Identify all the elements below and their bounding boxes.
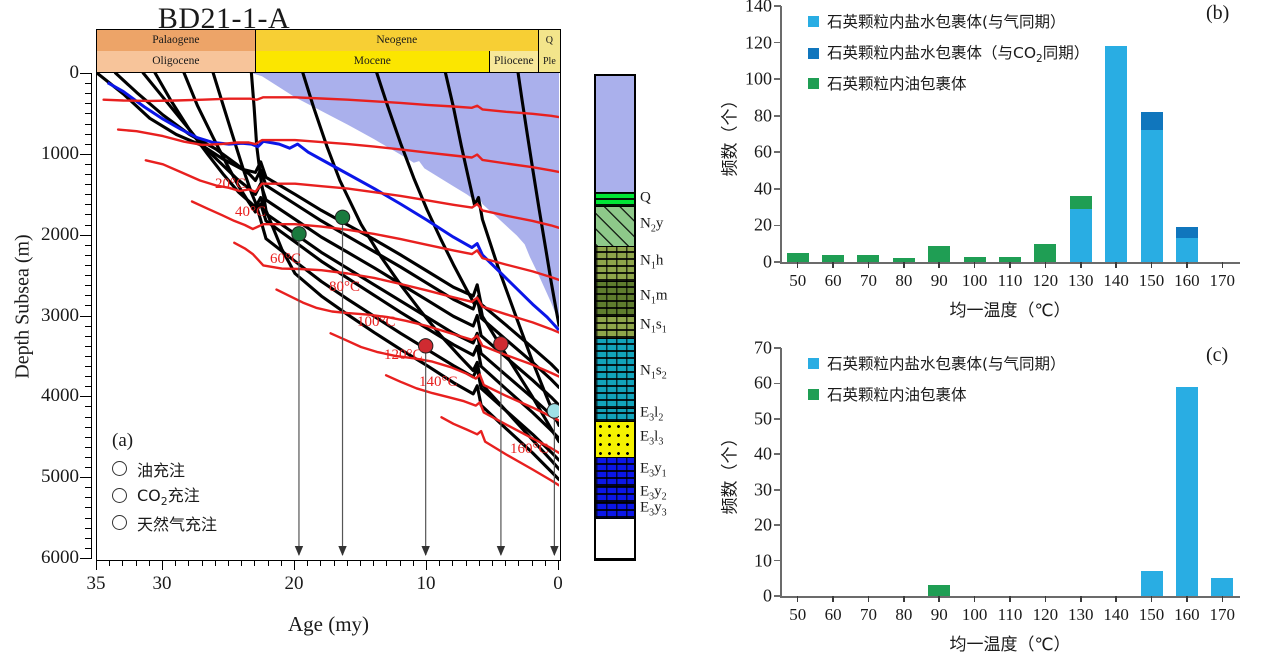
legend-swatch-icon bbox=[808, 389, 819, 400]
x-tick-label: 80 bbox=[895, 605, 912, 625]
age-minor-tick bbox=[413, 561, 414, 566]
bar-c-160-s0 bbox=[1176, 387, 1198, 596]
panel-c-histogram: 0102030405060705060708090100110120130140… bbox=[690, 320, 1266, 658]
bar-b-90-s2 bbox=[928, 246, 950, 262]
bar-b-120-s2 bbox=[1034, 244, 1056, 262]
strat-unit-E₃y₃ bbox=[596, 503, 634, 519]
x-tick-label: 60 bbox=[825, 271, 842, 291]
strat-unit-N₂y bbox=[596, 207, 634, 247]
y-tick bbox=[774, 78, 781, 80]
legend-swatch-icon bbox=[808, 358, 819, 369]
legend-label-co2: CO2充注 bbox=[137, 482, 200, 508]
age-minor-tick bbox=[320, 561, 321, 566]
strat-unit-label: Q bbox=[640, 190, 651, 207]
panel-b-tag: (b) bbox=[1206, 2, 1229, 25]
y-tick bbox=[774, 453, 781, 455]
chronostrat-cell-palaogene: Palaogene bbox=[97, 30, 256, 51]
charge-event-marker-oil bbox=[292, 227, 306, 241]
x-tick bbox=[1186, 596, 1188, 602]
age-tick-label: 35 bbox=[87, 573, 106, 595]
y-axis-line bbox=[780, 6, 782, 262]
charge-event-arrowhead bbox=[338, 546, 346, 556]
age-minor-tick bbox=[466, 561, 467, 566]
x-tick bbox=[903, 262, 905, 268]
legend-label-gas: 天然气充注 bbox=[137, 511, 217, 535]
age-minor-tick bbox=[347, 561, 348, 566]
age-minor-tick bbox=[109, 561, 110, 566]
x-axis-title: 均一温度（℃） bbox=[780, 630, 1240, 655]
y-tick bbox=[774, 347, 781, 349]
strat-unit-label: E3y1 bbox=[640, 461, 667, 480]
x-tick bbox=[868, 262, 870, 268]
strat-unit-label: N1s1 bbox=[640, 316, 667, 335]
bar-b-80-s2 bbox=[893, 258, 915, 262]
x-tick bbox=[1151, 596, 1153, 602]
x-tick bbox=[832, 596, 834, 602]
depth-tick-label: 0 bbox=[70, 62, 80, 84]
y-tick-label: 120 bbox=[724, 32, 772, 53]
y-tick bbox=[774, 225, 781, 227]
y-tick-label: 20 bbox=[724, 215, 772, 236]
x-tick-label: 50 bbox=[789, 605, 806, 625]
isotherm-label: 160°C bbox=[510, 441, 549, 457]
charge-event-arrowhead bbox=[497, 546, 505, 556]
strat-unit-label: E3l3 bbox=[640, 428, 663, 447]
oil-marker-icon bbox=[112, 461, 127, 476]
age-major-tick bbox=[162, 561, 163, 570]
x-tick bbox=[1080, 262, 1082, 268]
depth-tick-label: 6000 bbox=[41, 547, 79, 569]
legend-label: 石英颗粒内盐水包裹体(与气同期） bbox=[827, 10, 1066, 32]
age-axis-title: Age (my) bbox=[96, 612, 561, 637]
co2-marker-icon bbox=[112, 488, 127, 503]
strat-unit-E₃l₃ bbox=[596, 422, 634, 458]
panel-b-histogram: 0204060801001201405060708090100110120130… bbox=[690, 0, 1266, 320]
age-minor-tick bbox=[228, 561, 229, 566]
age-minor-tick bbox=[373, 561, 374, 566]
strat-unit-N₁h bbox=[596, 247, 634, 282]
depth-axis-spine bbox=[91, 73, 92, 558]
legend-label: 石英颗粒内盐水包裹体(与气同期） bbox=[827, 352, 1066, 374]
legend-label: 石英颗粒内油包裹体 bbox=[827, 72, 967, 94]
age-tick-label: 10 bbox=[417, 573, 436, 595]
x-tick-label: 120 bbox=[1033, 605, 1059, 625]
y-tick bbox=[774, 595, 781, 597]
legend-swatch-icon bbox=[808, 48, 819, 59]
strat-unit-label: N2y bbox=[640, 216, 663, 235]
y-axis-title: 频数（个） bbox=[716, 412, 741, 532]
strat-unit-label: N1s2 bbox=[640, 363, 667, 382]
x-tick bbox=[832, 262, 834, 268]
legend-row-b-1: 石英颗粒内盐水包裹体（与CO2同期） bbox=[808, 41, 1089, 65]
x-tick-label: 70 bbox=[860, 605, 877, 625]
bar-b-50-s2 bbox=[787, 253, 809, 262]
charge-event-marker-co2 bbox=[547, 404, 559, 418]
strat-unit-label: E3l2 bbox=[640, 404, 663, 423]
chronostrat-cell-ple: Ple bbox=[539, 51, 560, 72]
bar-b-140-s0 bbox=[1105, 46, 1127, 262]
x-tick-label: 130 bbox=[1068, 271, 1094, 291]
x-tick bbox=[903, 596, 905, 602]
x-tick bbox=[1045, 596, 1047, 602]
x-tick bbox=[1151, 262, 1153, 268]
y-tick-label: 140 bbox=[724, 0, 772, 17]
age-tick-label: 30 bbox=[153, 573, 172, 595]
age-minor-tick bbox=[188, 561, 189, 566]
x-tick bbox=[1222, 596, 1224, 602]
isotherm-label: 60°C bbox=[270, 251, 301, 267]
x-tick-label: 100 bbox=[962, 605, 988, 625]
x-tick bbox=[868, 596, 870, 602]
age-minor-tick bbox=[122, 561, 123, 566]
x-tick bbox=[938, 262, 940, 268]
depth-tick-label: 3000 bbox=[41, 305, 79, 327]
age-minor-tick bbox=[149, 561, 150, 566]
age-minor-tick bbox=[175, 561, 176, 566]
age-minor-tick bbox=[268, 561, 269, 566]
x-tick bbox=[974, 262, 976, 268]
strat-unit-label: E3y3 bbox=[640, 500, 667, 519]
legend-item-co2: CO2充注 bbox=[112, 482, 292, 509]
x-tick-label: 160 bbox=[1174, 271, 1200, 291]
age-axis: 353020100 bbox=[96, 561, 561, 601]
age-major-tick bbox=[426, 561, 427, 570]
x-tick bbox=[1080, 596, 1082, 602]
age-minor-tick bbox=[505, 561, 506, 566]
isotherm-label: 80°C bbox=[329, 279, 360, 295]
charge-event-arrowhead bbox=[550, 546, 558, 556]
y-tick-label: 0 bbox=[724, 586, 772, 607]
x-tick bbox=[974, 596, 976, 602]
age-minor-tick bbox=[360, 561, 361, 566]
age-minor-tick bbox=[215, 561, 216, 566]
age-minor-tick bbox=[452, 561, 453, 566]
x-tick bbox=[797, 262, 799, 268]
age-minor-tick bbox=[334, 561, 335, 566]
charge-event-legend: (a) 油充注 CO2充注 天然气充注 bbox=[112, 430, 292, 536]
age-minor-tick bbox=[479, 561, 480, 566]
charge-event-arrowhead bbox=[295, 546, 303, 556]
age-minor-tick bbox=[281, 561, 282, 566]
gas-marker-icon bbox=[112, 515, 127, 530]
isotherm-label: 140°C bbox=[419, 374, 458, 390]
x-tick bbox=[797, 596, 799, 602]
strat-unit-Q bbox=[596, 193, 634, 207]
isotherm-label: 20°C bbox=[215, 176, 246, 192]
legend-swatch-icon bbox=[808, 16, 819, 27]
chronostrat-cell-oligocene: Oligocene bbox=[97, 51, 256, 72]
y-tick-label: 60 bbox=[724, 373, 772, 394]
bar-b-110-s2 bbox=[999, 257, 1021, 262]
age-tick-label: 20 bbox=[285, 573, 304, 595]
panel-a-tag: (a) bbox=[112, 430, 292, 452]
y-tick-label: 70 bbox=[724, 338, 772, 359]
y-tick bbox=[774, 560, 781, 562]
x-axis-title: 均一温度（℃） bbox=[780, 296, 1240, 321]
x-tick-label: 90 bbox=[931, 271, 948, 291]
strat-unit-E₃l₂ bbox=[596, 409, 634, 422]
bar-b-160-s1 bbox=[1176, 227, 1198, 238]
panel-c-tag: (c) bbox=[1206, 344, 1228, 367]
age-minor-tick bbox=[241, 561, 242, 566]
bar-b-60-s2 bbox=[822, 255, 844, 262]
chronostrat-cell-q: Q bbox=[539, 30, 560, 51]
bar-b-100-s2 bbox=[964, 257, 986, 262]
depth-tick-label: 2000 bbox=[41, 224, 79, 246]
chronostrat-cell-pliocene: Pliocene bbox=[490, 51, 539, 72]
legend-row-c-1: 石英颗粒内油包裹体 bbox=[808, 383, 967, 405]
age-major-tick bbox=[96, 561, 97, 570]
depth-tick-label: 5000 bbox=[41, 466, 79, 488]
x-tick-label: 110 bbox=[998, 271, 1023, 291]
legend-row-b-2: 石英颗粒内油包裹体 bbox=[808, 72, 967, 94]
age-minor-tick bbox=[136, 561, 137, 566]
stratigraphic-column bbox=[594, 74, 636, 561]
x-tick-label: 150 bbox=[1139, 605, 1165, 625]
y-tick bbox=[774, 188, 781, 190]
strat-unit-E₃y₂ bbox=[596, 487, 634, 503]
depth-axis: Depth Subsea (m) 01000200030004000500060… bbox=[0, 60, 92, 580]
panel-a-burial-history: BD21-1-A PalaogeneNeogeneQ OligoceneMoce… bbox=[0, 0, 690, 658]
age-minor-tick bbox=[386, 561, 387, 566]
x-tick-label: 140 bbox=[1103, 605, 1129, 625]
y-tick bbox=[774, 524, 781, 526]
chronostrat-period-row: PalaogeneNeogeneQ bbox=[97, 30, 560, 51]
strat-unit-label: N1m bbox=[640, 288, 668, 307]
y-tick bbox=[774, 418, 781, 420]
stratigraphic-column-labels: QN2yN1hN1mN1s1N1s2E3l2E3l3E3y1E3y2E3y3 bbox=[640, 74, 694, 561]
charge-event-marker-oil bbox=[335, 210, 349, 224]
x-tick-label: 160 bbox=[1174, 605, 1200, 625]
legend-swatch-icon bbox=[808, 78, 819, 89]
strat-unit-unlabeled bbox=[596, 519, 634, 559]
age-tick-label: 0 bbox=[553, 573, 563, 595]
strat-unit-E₃y₁ bbox=[596, 458, 634, 487]
chronostrat-cell-mocene: Mocene bbox=[256, 51, 490, 72]
strat-unit-label: N1h bbox=[640, 253, 663, 272]
x-tick bbox=[1009, 262, 1011, 268]
y-tick bbox=[774, 115, 781, 117]
x-tick bbox=[1009, 596, 1011, 602]
x-tick bbox=[938, 596, 940, 602]
y-tick bbox=[774, 489, 781, 491]
x-tick-label: 100 bbox=[962, 271, 988, 291]
y-tick bbox=[774, 151, 781, 153]
x-tick bbox=[1045, 262, 1047, 268]
isotherm-label: 120°C bbox=[384, 347, 423, 363]
x-tick-label: 140 bbox=[1103, 271, 1129, 291]
x-tick-label: 110 bbox=[998, 605, 1023, 625]
x-tick-label: 50 bbox=[789, 271, 806, 291]
strat-unit-unlabeled bbox=[596, 76, 634, 193]
x-tick bbox=[1222, 262, 1224, 268]
bar-b-150-s0 bbox=[1141, 130, 1163, 262]
x-tick-label: 130 bbox=[1068, 605, 1094, 625]
strat-unit-N₁s₁ bbox=[596, 317, 634, 339]
age-minor-tick bbox=[400, 561, 401, 566]
legend-label-oil: 油充注 bbox=[137, 457, 185, 481]
depth-major-tick bbox=[80, 558, 92, 559]
x-tick-label: 150 bbox=[1139, 271, 1165, 291]
y-axis-title: 频数（个） bbox=[716, 74, 741, 194]
bar-b-130-s2 bbox=[1070, 196, 1092, 209]
bar-b-70-s2 bbox=[857, 255, 879, 262]
x-tick bbox=[1186, 262, 1188, 268]
legend-item-gas: 天然气充注 bbox=[112, 509, 292, 536]
y-tick bbox=[774, 383, 781, 385]
legend-item-oil: 油充注 bbox=[112, 455, 292, 482]
x-tick-label: 80 bbox=[895, 271, 912, 291]
y-tick-label: 0 bbox=[724, 252, 772, 273]
bar-b-130-s0 bbox=[1070, 209, 1092, 262]
age-minor-tick bbox=[307, 561, 308, 566]
bar-c-170-s0 bbox=[1211, 578, 1233, 596]
bar-c-150-s0 bbox=[1141, 571, 1163, 596]
age-major-tick bbox=[558, 561, 559, 570]
bar-c-90-s1 bbox=[928, 585, 950, 596]
x-tick-label: 60 bbox=[825, 605, 842, 625]
chronostrat-epoch-row: OligoceneMocenePliocenePle bbox=[97, 51, 560, 72]
y-tick bbox=[774, 5, 781, 7]
legend-row-c-0: 石英颗粒内盐水包裹体(与气同期） bbox=[808, 352, 1066, 374]
x-tick-label: 170 bbox=[1210, 605, 1236, 625]
x-tick-label: 90 bbox=[931, 605, 948, 625]
x-tick-label: 70 bbox=[860, 271, 877, 291]
age-minor-tick bbox=[545, 561, 546, 566]
legend-label: 石英颗粒内盐水包裹体（与CO2同期） bbox=[827, 41, 1089, 65]
bar-b-160-s0 bbox=[1176, 238, 1198, 262]
isotherm-label: 100°C bbox=[357, 314, 396, 330]
x-tick bbox=[1115, 262, 1117, 268]
legend-row-b-0: 石英颗粒内盐水包裹体(与气同期） bbox=[808, 10, 1066, 32]
age-major-tick bbox=[294, 561, 295, 570]
age-minor-tick bbox=[518, 561, 519, 566]
age-minor-tick bbox=[439, 561, 440, 566]
depth-axis-title: Depth Subsea (m) bbox=[12, 187, 35, 427]
depth-tick-label: 1000 bbox=[41, 143, 79, 165]
legend-label: 石英颗粒内油包裹体 bbox=[827, 383, 967, 405]
chronostratigraphy-header: PalaogeneNeogeneQ OligoceneMocenePliocen… bbox=[96, 29, 561, 73]
x-tick bbox=[1115, 596, 1117, 602]
strat-unit-N₁s₂ bbox=[596, 339, 634, 410]
chronostrat-cell-neogene: Neogene bbox=[256, 30, 539, 51]
age-minor-tick bbox=[254, 561, 255, 566]
age-minor-tick bbox=[532, 561, 533, 566]
y-tick bbox=[774, 42, 781, 44]
age-minor-tick bbox=[492, 561, 493, 566]
isotherm-label: 40°C bbox=[235, 204, 266, 220]
y-tick bbox=[774, 261, 781, 263]
age-minor-tick bbox=[202, 561, 203, 566]
depth-tick-label: 4000 bbox=[41, 385, 79, 407]
x-tick-label: 170 bbox=[1210, 271, 1236, 291]
y-tick-label: 10 bbox=[724, 550, 772, 571]
charge-event-marker-gas bbox=[494, 337, 508, 351]
strat-unit-N₁m bbox=[596, 282, 634, 317]
bar-b-150-s1 bbox=[1141, 112, 1163, 130]
charge-event-arrowhead bbox=[421, 546, 429, 556]
x-tick-label: 120 bbox=[1033, 271, 1059, 291]
